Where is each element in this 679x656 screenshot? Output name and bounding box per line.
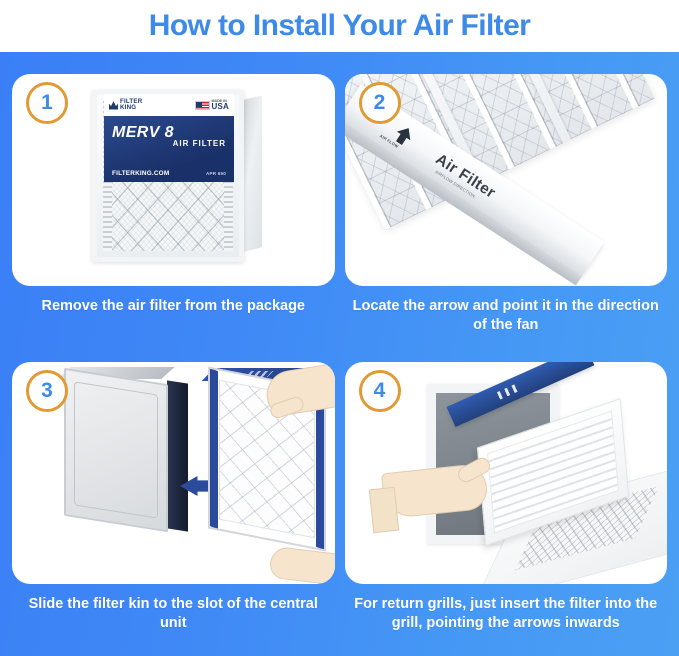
unit-dark-slot bbox=[167, 380, 188, 531]
label-main-panel: MERV 8 AIR FILTER FILTERKING.COM APR 650 bbox=[104, 116, 234, 182]
step-1-card: FILTER KING MADE IN USA bbox=[12, 74, 335, 286]
step-4-number-badge: 4 bbox=[359, 370, 401, 412]
apr-rating-text: APR 650 bbox=[206, 171, 226, 176]
header-band: How to Install Your Air Filter bbox=[0, 0, 679, 52]
air-filter-product-photo: FILTER KING MADE IN USA bbox=[90, 90, 262, 262]
unit-inner-outline bbox=[74, 381, 158, 518]
step-4: 4 For return grills, just insert the fil… bbox=[345, 362, 668, 646]
filter-product-label: FILTER KING MADE IN USA bbox=[104, 94, 234, 182]
step-3-caption: Slide the filter kin to the slot of the … bbox=[12, 595, 335, 634]
hand-sleeve bbox=[368, 487, 398, 533]
usa-words: MADE IN USA bbox=[212, 100, 230, 111]
central-unit-slot bbox=[64, 376, 168, 524]
crown-icon bbox=[109, 101, 118, 110]
steps-grid: FILTER KING MADE IN USA bbox=[0, 52, 679, 656]
step-2-number-badge: 2 bbox=[359, 82, 401, 124]
country-text: USA bbox=[212, 103, 230, 111]
usa-flag-icon bbox=[195, 101, 210, 110]
filter-right-frame bbox=[316, 389, 324, 550]
step-3-number-badge: 3 bbox=[26, 370, 68, 412]
step-4-caption: For return grills, just insert the filte… bbox=[345, 595, 668, 634]
website-text: FILTERKING.COM bbox=[112, 170, 169, 177]
hand-lower bbox=[268, 546, 334, 584]
step-3-card: 3 bbox=[12, 362, 335, 584]
step-2: AIR FLOW Air Filter AIRFLOW DIRECTION 2 … bbox=[345, 74, 668, 358]
infographic-root: How to Install Your Air Filter bbox=[0, 0, 679, 656]
made-in-usa-badge: MADE IN USA bbox=[195, 100, 230, 111]
filter-arrow-markings-icon bbox=[496, 384, 518, 399]
step-1-caption: Remove the air filter from the package bbox=[12, 297, 335, 316]
filter-king-logo: FILTER KING bbox=[109, 99, 142, 110]
step-4-card: 4 bbox=[345, 362, 668, 584]
brand-line-2: KING bbox=[120, 105, 142, 111]
label-footer-row: FILTERKING.COM APR 650 bbox=[112, 170, 226, 177]
label-header-row: FILTER KING MADE IN USA bbox=[104, 94, 234, 116]
brand-text: FILTER KING bbox=[120, 99, 142, 110]
step-2-caption: Locate the arrow and point it in the dir… bbox=[345, 297, 668, 336]
step-1-number-badge: 1 bbox=[26, 82, 68, 124]
step-3: 3 Slide the filter kin to the slot of th… bbox=[12, 362, 335, 646]
page-title: How to Install Your Air Filter bbox=[149, 9, 530, 43]
step-1: FILTER KING MADE IN USA bbox=[12, 74, 335, 358]
filter-depth-side bbox=[325, 385, 335, 551]
filter-left-frame bbox=[210, 368, 218, 529]
step-2-card: AIR FLOW Air Filter AIRFLOW DIRECTION 2 bbox=[345, 74, 668, 286]
